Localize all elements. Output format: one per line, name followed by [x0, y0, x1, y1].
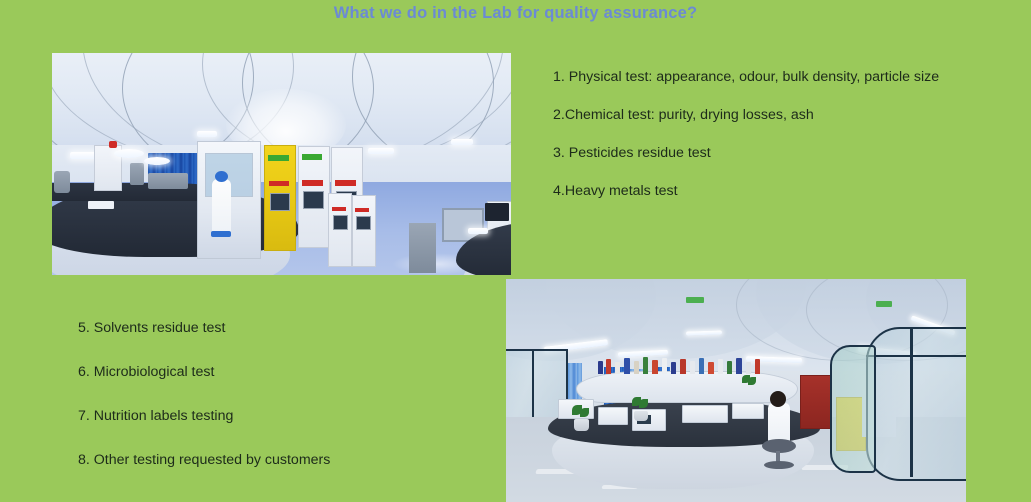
test-list-right: 1. Physical test: appearance, odour, bul… — [553, 68, 953, 220]
list-item: 1. Physical test: appearance, odour, bul… — [553, 68, 953, 87]
reagent-bottle — [736, 358, 742, 374]
reagent-bottle — [606, 359, 611, 374]
lab-instrument — [682, 405, 728, 423]
wall-cabinet — [328, 193, 352, 267]
list-item: 7. Nutrition labels testing — [78, 407, 498, 426]
red-indicator — [109, 141, 117, 148]
reagent-bottle — [727, 361, 732, 374]
reagent-bottle — [598, 361, 603, 374]
reagent-bottle — [615, 362, 620, 374]
bench-lamp — [144, 157, 170, 165]
glass-mullion — [910, 327, 913, 477]
plant-leaf — [748, 377, 756, 385]
list-item: 6. Microbiological test — [78, 363, 498, 382]
glass-partition-right — [866, 327, 966, 481]
bench-lamp — [468, 228, 488, 234]
cabinet-label — [269, 181, 289, 186]
cabinet-label — [335, 180, 356, 186]
cabinet-window — [303, 191, 324, 209]
reagent-bottle — [634, 361, 639, 374]
ceiling-light — [451, 139, 473, 145]
glass-door — [830, 345, 876, 473]
reagent-bottle — [690, 361, 695, 374]
technician-shoe-cover — [211, 231, 231, 237]
analyst-head — [770, 391, 786, 407]
cabinet-label — [302, 154, 322, 160]
slide-canvas: What we do in the Lab for quality assura… — [0, 0, 1031, 502]
cabinet-window — [333, 215, 348, 230]
lab-instrument — [598, 407, 628, 425]
reagent-bottle — [680, 359, 686, 374]
reagent-bottle — [699, 358, 704, 374]
reagent-bottle — [643, 357, 648, 374]
ceiling-light — [368, 148, 394, 154]
reagent-bottle — [652, 360, 658, 374]
lab-instrument — [732, 403, 764, 419]
reagent-bottle — [662, 358, 667, 374]
list-item: 2.Chemical test: purity, drying losses, … — [553, 106, 953, 125]
lab-technician — [212, 179, 231, 233]
test-list-bottom-left: 5. Solvents residue test 6. Microbiologi… — [78, 319, 498, 495]
computer-monitor — [485, 203, 509, 221]
cabinet-label — [355, 208, 369, 212]
cabinet-label — [302, 180, 323, 186]
list-item: 5. Solvents residue test — [78, 319, 498, 338]
reagent-bottle — [718, 359, 723, 374]
list-item: 3. Pesticides residue test — [553, 144, 953, 163]
plant-pot — [634, 411, 648, 421]
plant-leaf — [639, 399, 648, 408]
wall-cabinet — [352, 195, 376, 267]
list-item: 8. Other testing requested by customers — [78, 451, 498, 470]
list-item: 4.Heavy metals test — [553, 182, 953, 201]
reagent-bottle — [671, 362, 676, 374]
photo-lab-cleanroom — [52, 53, 511, 275]
reagent-bottle — [755, 359, 760, 374]
stool-wheels — [764, 461, 794, 469]
lab-instrument — [130, 163, 144, 185]
lab-instrument — [148, 173, 188, 189]
reagent-bottle — [624, 358, 630, 374]
photo-lab-testbench — [506, 279, 966, 502]
cabinet-window — [356, 216, 371, 230]
technician-cap — [215, 171, 228, 182]
paper-sheet — [88, 201, 114, 209]
plant-pot — [574, 419, 589, 431]
lab-instrument — [54, 171, 70, 193]
page-title: What we do in the Lab for quality assura… — [0, 4, 1031, 23]
glass-mullion — [866, 355, 966, 357]
cabinet-label — [268, 155, 289, 161]
reagent-bottle — [746, 362, 751, 374]
exit-sign — [686, 297, 704, 303]
red-door — [800, 375, 832, 429]
exit-sign — [876, 301, 892, 307]
plant-leaf — [580, 408, 589, 417]
bench-lamp — [114, 149, 144, 158]
potted-plant — [742, 375, 758, 389]
reagent-bottle — [708, 362, 714, 374]
cabinet-window — [270, 193, 290, 211]
cabinet-label — [332, 207, 346, 211]
ceiling-light — [197, 131, 217, 137]
reagent-shelf — [576, 371, 798, 403]
utility-cabinet — [409, 223, 436, 273]
